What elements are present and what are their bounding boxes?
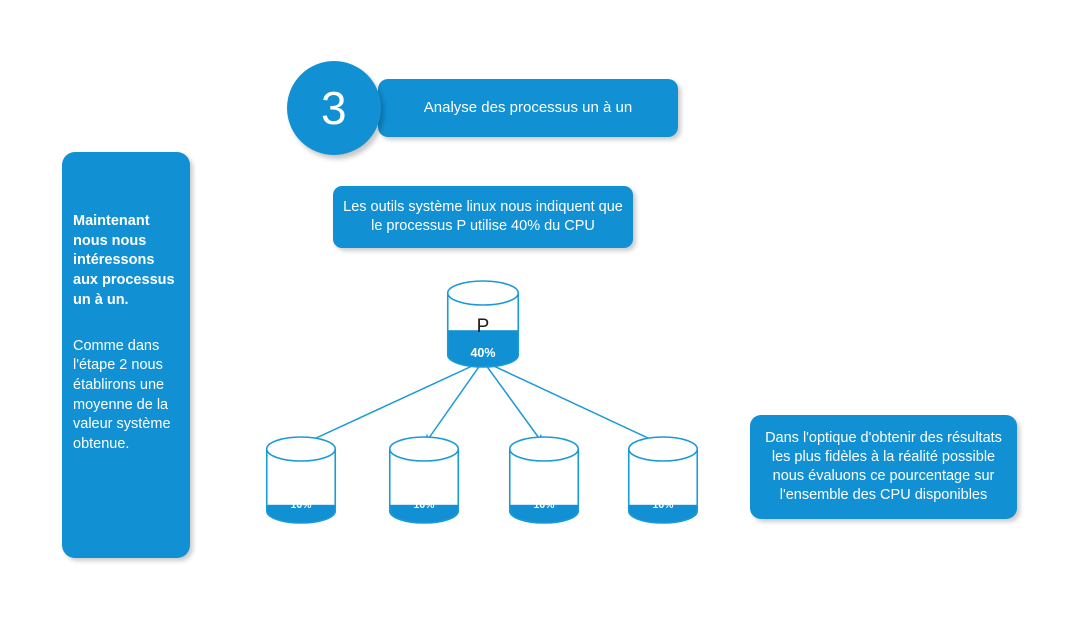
child-cylinder-2-percent-label: 10%	[389, 500, 459, 511]
parent-cylinder-id-label: P	[447, 317, 519, 336]
connector-arrow-4	[483, 361, 663, 445]
child-cylinder-2: 10%	[389, 437, 459, 511]
child-cylinder-3-percent-label: 10%	[509, 500, 579, 511]
slide-title-pill: Analyse des processus un à un	[378, 79, 678, 137]
connector-arrow-3	[483, 361, 544, 445]
step-number-label: 3	[321, 85, 347, 131]
connector-arrow-1	[301, 361, 483, 445]
step-number-badge: 3	[287, 61, 381, 155]
slide-canvas: 3 Analyse des processus un à un Maintena…	[0, 0, 1076, 625]
parent-cylinder: P40%	[447, 281, 519, 355]
child-cylinder-1-percent-label: 10%	[266, 500, 336, 511]
child-cylinder-3: 10%	[509, 437, 579, 511]
slide-title-label: Analyse des processus un à un	[424, 98, 632, 118]
child-cylinder-1: 10%	[266, 437, 336, 511]
connector-arrow-2	[424, 361, 483, 445]
parent-cylinder-percent-label: 40%	[447, 347, 519, 360]
child-cylinder-4-percent-label: 10%	[628, 500, 698, 511]
child-cylinder-4: 10%	[628, 437, 698, 511]
